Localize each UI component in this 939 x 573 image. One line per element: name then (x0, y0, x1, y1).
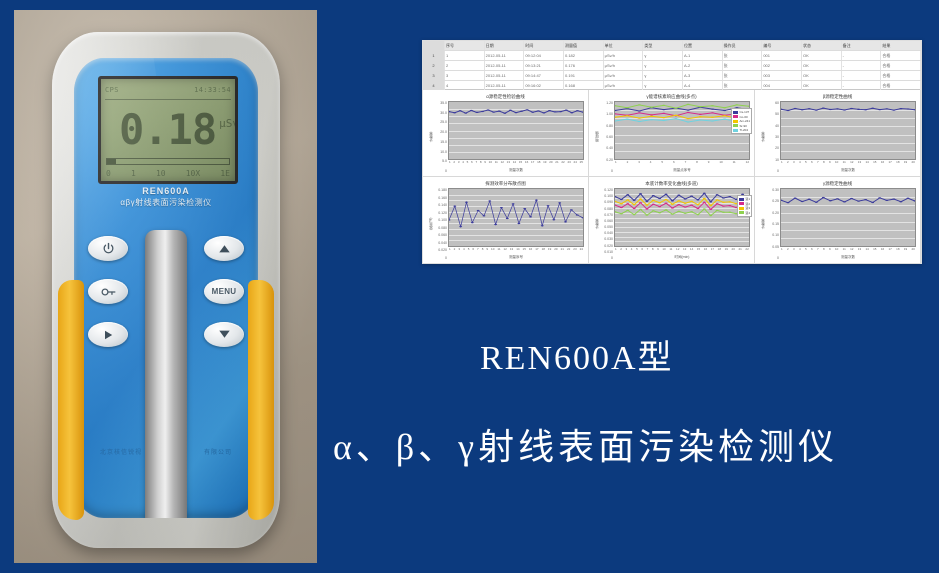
chart-y-tick: 5.0 (433, 159, 447, 163)
chart-x-tick: 1 (615, 247, 617, 254)
chart-x-tick: 7 (817, 160, 819, 167)
table-cell: - (842, 51, 882, 60)
table-cell: γ (643, 71, 683, 80)
down-button[interactable] (204, 322, 244, 347)
chart-plot-wrap: 1234567891011121314151617181920测量次数 (780, 188, 916, 260)
chart-y-tick: 10.0 (433, 150, 447, 154)
table-cell: 类型 (643, 41, 683, 50)
lcd-status-time: 14:33:54 (194, 86, 231, 94)
chart-x-tick: 14 (513, 160, 516, 167)
data-table: 序号日期时间测量值单位类型位置操作员编号状态备注结果112012-05-1109… (423, 41, 921, 90)
chart-x-tick: 9 (484, 160, 486, 167)
chart-body: 响应值1.201.000.800.600.400.200123456789101… (593, 101, 750, 173)
table-cell: - (842, 71, 882, 80)
lcd-screen: CPS 14:33:54 0.18 μSv/h 0 1 10 10X 1E (98, 76, 238, 184)
table-cell: A-3 (683, 71, 723, 80)
chart-x-tick: 4 (650, 160, 652, 167)
slide-canvas: CPS 14:33:54 0.18 μSv/h 0 1 10 10X 1E (0, 0, 939, 573)
table-cell: 001 (762, 51, 802, 60)
lcd-status-row: CPS 14:33:54 (105, 82, 231, 97)
device-model-text: REN600A (74, 186, 258, 196)
chart-x-tick: 3 (626, 247, 628, 254)
chart-plot-wrap: 1234567891011121314151617181920212223242… (448, 101, 584, 173)
chart-x-tick: 4 (631, 247, 633, 254)
chart-x-tick: 19 (904, 247, 907, 254)
chart-x-tick: 21 (555, 160, 558, 167)
device-grip-right (248, 280, 274, 520)
table-cell: 合格 (881, 61, 921, 70)
chart-x-tick: 12 (676, 247, 679, 254)
chart-series-svg (449, 102, 583, 159)
table-cell: 004 (762, 81, 802, 90)
chart-x-tick: 12 (746, 160, 749, 167)
chart-x-tick: 23 (573, 247, 576, 254)
table-cell: A-1 (683, 51, 723, 60)
chart-x-tick: 5 (805, 160, 807, 167)
chart-legend: 道1道2道3道4 (737, 195, 752, 217)
chart-x-tick: 3 (793, 160, 795, 167)
product-model-title: REN600A型 (480, 330, 900, 379)
chart-x-tick: 3 (793, 247, 795, 254)
chart-x-tick: 17 (531, 160, 534, 167)
chart-x-tick: 10 (835, 160, 838, 167)
chart-y-tick: 30 (765, 135, 779, 139)
chart-legend-swatch (739, 207, 744, 210)
chart-y-tick: 60 (765, 101, 779, 105)
chevron-down-icon (218, 329, 231, 340)
chart-y-axis-label: 计数率 (427, 101, 433, 173)
key-button[interactable] (88, 279, 128, 304)
chart-x-tick: 2 (787, 160, 789, 167)
chart-y-tick: 0.05 (765, 245, 779, 249)
chart-x-tick: 17 (711, 247, 714, 254)
chart-y-tick: 0.30 (765, 188, 779, 192)
chart-y-tick: 0.050 (599, 225, 613, 229)
table-row[interactable]: 222012-05-1109:13:210.176μSv/hγA-2张002OK… (423, 61, 921, 71)
device-footer-right: 有限公司 (204, 447, 232, 456)
chart-x-tick: 22 (745, 247, 748, 254)
chart-y-tick: 0.060 (433, 233, 447, 237)
chart-x-tick: 11 (669, 247, 672, 254)
chart-x-tick: 11 (843, 247, 846, 254)
lcd-tick-2: 10 (156, 169, 166, 178)
chart-y-tick: 0.100 (599, 194, 613, 198)
chart-y-tick: 0.20 (765, 211, 779, 215)
chart-x-tick: 15 (873, 160, 876, 167)
chart-y-tick: 1.00 (599, 112, 613, 116)
chart-y-tick: 10 (765, 158, 779, 162)
chevron-up-icon (218, 243, 231, 254)
chart-legend-label: 道2 (745, 202, 750, 206)
chart-x-tick: 18 (718, 247, 721, 254)
lcd-divider (105, 99, 231, 100)
chart-x-tick: 6 (811, 247, 813, 254)
chart-legend-item: Sr-90 (733, 124, 750, 128)
chart-legend-swatch (733, 120, 738, 123)
product-photo: CPS 14:33:54 0.18 μSv/h 0 1 10 10X 1E (14, 10, 317, 563)
chart-y-tick: 0 (765, 256, 779, 260)
chart-legend-item: 道2 (739, 202, 750, 206)
chart-x-tick: 17 (535, 247, 538, 254)
chart-beta-stability-1: β源稳定性曲线计数率605040302010012345678910111213… (755, 90, 921, 177)
chart-y-ticks: 35.030.025.020.015.010.05.00 (433, 101, 448, 173)
chart-y-ticks: 1.201.000.800.600.400.200 (599, 101, 614, 173)
menu-button[interactable]: MENU (204, 279, 244, 304)
chart-legend-label: 道3 (745, 206, 750, 210)
chart-legend-swatch (733, 129, 738, 132)
chart-series-svg (781, 102, 915, 159)
chart-x-tick: 10 (491, 247, 494, 254)
chart-x-tick: 16 (529, 247, 532, 254)
chart-y-tick: 0.080 (599, 207, 613, 211)
chart-y-tick: 15.0 (433, 140, 447, 144)
chart-x-tick: 15 (697, 247, 700, 254)
table-cell: 09:12:04 (524, 51, 564, 60)
device-label: REN600A αβγ射线表面污染检测仪 (74, 186, 258, 208)
table-cell: 张 (723, 71, 763, 80)
chart-legend-label: Am-241 (739, 119, 750, 123)
table-cell: - (842, 81, 882, 90)
chart-title: 探测效率分布散点图 (427, 180, 584, 188)
table-cell: γ (643, 61, 683, 70)
chart-x-tick: 7 (477, 247, 479, 254)
chart-x-tick: 5 (467, 160, 469, 167)
chart-x-tick: 15 (523, 247, 526, 254)
chart-x-tick: 22 (561, 160, 564, 167)
chart-x-tick: 19 (548, 247, 551, 254)
chart-multi-isotope: γ能谱核素响应曲线(多点)响应值1.201.000.800.600.400.20… (589, 90, 755, 177)
chart-series-svg (615, 189, 749, 246)
chart-x-tick: 18 (896, 247, 899, 254)
table-cell: 002 (762, 61, 802, 70)
chart-x-tick: 18 (542, 247, 545, 254)
chart-x-tick: 7 (685, 160, 687, 167)
chart-x-tick: 16 (881, 247, 884, 254)
chart-plot-area (614, 188, 750, 247)
chart-plot-area (448, 188, 584, 247)
chart-y-tick: 0.140 (433, 203, 447, 207)
table-cell: γ (643, 81, 683, 90)
chart-x-ticks: 12345678910111213141516171819202122 (614, 247, 750, 254)
table-header-row: 序号日期时间测量值单位类型位置操作员编号状态备注结果 (423, 41, 921, 51)
table-cell: μSv/h (604, 71, 644, 80)
chart-y-tick: 0.40 (599, 146, 613, 150)
lcd-tick-0: 0 (106, 169, 111, 178)
chart-x-tick: 19 (904, 160, 907, 167)
table-cell: 0.182 (564, 51, 604, 60)
chart-x-tick: 10 (719, 160, 722, 167)
chart-x-tick: 8 (482, 247, 484, 254)
chart-y-axis-label: 响应值 (593, 101, 599, 173)
chart-x-tick: 12 (850, 160, 853, 167)
chart-y-tick: 0.040 (599, 231, 613, 235)
chart-x-tick: 20 (912, 160, 915, 167)
table-cell: 1 (423, 51, 445, 60)
device-keypad: MENU (74, 236, 258, 478)
chart-x-tick: 2 (787, 247, 789, 254)
chart-legend-item: 道3 (739, 206, 750, 210)
chart-y-tick: 0.160 (433, 196, 447, 200)
table-cell: 单位 (604, 41, 644, 50)
table-cell: γ (643, 51, 683, 60)
table-cell: 1 (445, 51, 485, 60)
chart-legend-swatch (739, 198, 744, 201)
chart-plot-wrap: 123456789101112测量点序号 (614, 101, 750, 173)
table-cell: 2012-05-11 (485, 71, 525, 80)
chart-x-tick: 7 (475, 160, 477, 167)
chart-y-tick: 0.090 (599, 200, 613, 204)
chart-y-tick: 0.20 (599, 158, 613, 162)
table-cell: 09:14:47 (524, 71, 564, 80)
chart-x-axis-label: 测量次数 (448, 167, 584, 173)
device-front-face: CPS 14:33:54 0.18 μSv/h 0 1 10 10X 1E (74, 58, 258, 518)
chart-x-axis-label: 测量序号 (448, 254, 584, 260)
table-cell: 3 (423, 71, 445, 80)
chart-legend-item: 道4 (739, 211, 750, 215)
chart-x-ticks: 1234567891011121314151617181920212223242… (448, 160, 584, 167)
table-cell: 09:16:02 (524, 81, 564, 90)
chart-x-tick: 8 (823, 160, 825, 167)
chart-x-tick: 2 (620, 247, 622, 254)
chart-legend-label: Cs-137 (739, 110, 749, 114)
table-cell: OK (802, 61, 842, 70)
lcd-status-mode: CPS (105, 86, 119, 94)
chart-y-tick: 0.80 (599, 124, 613, 128)
chart-y-axis-label: 效率(%) (427, 188, 433, 260)
chart-x-tick: 15 (519, 160, 522, 167)
product-description-title: α、β、γ射线表面污染检测仪 (333, 418, 933, 470)
chart-legend-item: 道1 (739, 197, 750, 201)
table-row[interactable]: 332012-05-1109:14:470.191μSv/hγA-3张003OK… (423, 71, 921, 81)
chart-y-ticks: 0.1800.1600.1400.1200.1000.0800.0600.040… (433, 188, 448, 260)
chart-x-tick: 9 (657, 247, 659, 254)
chart-title: γ源稳定性曲线 (759, 180, 916, 188)
chart-x-tick: 14 (690, 247, 693, 254)
chart-x-tick: 13 (507, 160, 510, 167)
chart-bg-multi: 本底计数率变化曲线(多道)计数率0.1200.1000.0900.0800.07… (589, 177, 755, 264)
chart-beta-stability-2: γ源稳定性曲线计数率0.300.250.200.150.100.05012345… (755, 177, 921, 264)
chart-alpha-stability: α源稳定性检验曲线计数率35.030.025.020.015.010.05.00… (423, 90, 589, 177)
chart-plot-area (614, 101, 750, 160)
table-cell: 编号 (762, 41, 802, 50)
chart-x-tick: 12 (501, 160, 504, 167)
chart-x-tick: 10 (835, 247, 838, 254)
chart-x-tick: 6 (472, 247, 474, 254)
table-cell: 备注 (842, 41, 882, 50)
chart-y-tick: 0.15 (765, 222, 779, 226)
chart-x-tick: 9 (829, 247, 831, 254)
table-cell: 2012-05-11 (485, 81, 525, 90)
chart-x-tick: 1 (781, 160, 783, 167)
chart-x-tick: 9 (486, 247, 488, 254)
chart-y-tick: 30.0 (433, 111, 447, 115)
lcd-tick-1: 1 (131, 169, 136, 178)
table-cell: 0.191 (564, 71, 604, 80)
chart-legend-label: 道1 (745, 197, 750, 201)
chart-x-tick: 11 (843, 160, 846, 167)
chart-y-tick: 0.060 (599, 219, 613, 223)
chart-x-tick: 10 (489, 160, 492, 167)
table-cell: A-2 (683, 61, 723, 70)
chart-x-tick: 25 (580, 160, 583, 167)
chart-y-tick: 0.10 (765, 233, 779, 237)
chart-x-tick: 5 (468, 247, 470, 254)
table-cell: 测量值 (564, 41, 604, 50)
chart-y-tick: 1.20 (599, 101, 613, 105)
software-screenshot-panel: 序号日期时间测量值单位类型位置操作员编号状态备注结果112012-05-1109… (422, 40, 922, 264)
chart-x-tick: 9 (829, 160, 831, 167)
chart-x-tick: 14 (516, 247, 519, 254)
chart-y-tick: 0 (765, 169, 779, 173)
chart-x-tick: 3 (458, 247, 460, 254)
chart-x-tick: 11 (733, 160, 736, 167)
keypad-column-right: MENU (204, 236, 244, 347)
chart-y-tick: 50 (765, 112, 779, 116)
chart-y-tick: 20 (765, 146, 779, 150)
chart-x-tick: 8 (652, 247, 654, 254)
chart-y-axis-label: 计数率 (759, 188, 765, 260)
chart-series-svg (615, 102, 749, 159)
chart-x-tick: 1 (781, 247, 783, 254)
chart-legend-swatch (733, 124, 738, 127)
table-cell: A-4 (683, 81, 723, 90)
chart-x-ticks: 1234567891011121314151617181920 (780, 160, 916, 167)
chart-x-tick: 2 (627, 160, 629, 167)
chart-x-axis-label: 测量次数 (780, 167, 916, 173)
chart-y-tick: 0 (433, 256, 447, 260)
power-icon (102, 242, 115, 255)
chart-y-tick: 0.080 (433, 226, 447, 230)
up-button[interactable] (204, 236, 244, 261)
chart-legend-item: Co-60 (733, 115, 750, 119)
chart-legend-swatch (733, 111, 738, 114)
chart-x-tick: 11 (497, 247, 500, 254)
chart-legend-label: Tl-204 (739, 128, 748, 132)
table-cell: 2 (423, 61, 445, 70)
chart-y-tick: 0.120 (599, 188, 613, 192)
chart-x-axis-label: 时间(min) (614, 254, 750, 260)
table-row[interactable]: 112012-05-1109:12:040.182μSv/hγA-1张001OK… (423, 51, 921, 61)
chart-legend-item: Am-241 (733, 119, 750, 123)
lcd-reading: 0.18 μSv/h (107, 103, 231, 157)
chart-x-tick: 3 (638, 160, 640, 167)
device-chinese-text: αβγ射线表面污染检测仪 (74, 197, 258, 208)
chart-x-tick: 14 (865, 247, 868, 254)
keypad-column-left (88, 236, 128, 347)
table-cell: - (842, 61, 882, 70)
chart-body: 计数率35.030.025.020.015.010.05.00123456789… (427, 101, 584, 173)
table-cell: 张 (723, 51, 763, 60)
chart-title: γ能谱核素响应曲线(多点) (593, 93, 750, 101)
chart-y-tick: 0.030 (599, 237, 613, 241)
chart-x-tick: 15 (873, 247, 876, 254)
chart-y-tick: 0.25 (765, 199, 779, 203)
table-cell: 2012-05-11 (485, 61, 525, 70)
chart-x-tick: 13 (858, 160, 861, 167)
chart-title: 本底计数率变化曲线(多道) (593, 180, 750, 188)
chart-y-tick: 0.60 (599, 135, 613, 139)
chart-x-tick: 20 (549, 160, 552, 167)
chart-x-tick: 4 (463, 247, 465, 254)
chart-legend-swatch (739, 211, 744, 214)
chart-x-ticks: 1234567891011121314151617181920 (780, 247, 916, 254)
chart-x-tick: 4 (799, 247, 801, 254)
lcd-tick-3: 10X (186, 169, 200, 178)
chart-x-ticks: 123456789101112 (614, 160, 750, 167)
chart-legend: Cs-137Co-60Am-241Sr-90Tl-204 (731, 108, 752, 134)
table-cell: 4 (423, 81, 445, 90)
chart-y-tick: 0.100 (433, 218, 447, 222)
lcd-bargraph (106, 158, 230, 165)
chart-title: β源稳定性曲线 (759, 93, 916, 101)
play-button[interactable] (88, 322, 128, 347)
table-cell: 结果 (881, 41, 921, 50)
chart-legend-item: Tl-204 (733, 128, 750, 132)
chart-y-tick: 0.180 (433, 188, 447, 192)
device-grip-left (58, 280, 84, 520)
chart-efficiency-scatter: 探测效率分布散点图效率(%)0.1800.1600.1400.1200.1000… (423, 177, 589, 264)
table-cell: 张 (723, 81, 763, 90)
chart-x-tick: 5 (661, 160, 663, 167)
chart-y-tick: 25.0 (433, 120, 447, 124)
table-cell: 操作员 (723, 41, 763, 50)
chart-x-tick: 19 (543, 160, 546, 167)
chart-legend-swatch (733, 115, 738, 118)
chart-y-tick: 0.070 (599, 213, 613, 217)
table-cell: μSv/h (604, 51, 644, 60)
chart-plot-area (448, 101, 584, 160)
table-cell: 4 (445, 81, 485, 90)
chart-x-tick: 4 (462, 160, 464, 167)
chart-x-tick: 5 (805, 247, 807, 254)
chart-legend-swatch (739, 202, 744, 205)
device-handle-strip (145, 230, 187, 518)
chart-x-tick: 18 (896, 160, 899, 167)
chart-series-svg (781, 189, 915, 246)
chart-x-tick: 23 (567, 160, 570, 167)
table-cell: 时间 (524, 41, 564, 50)
chart-x-tick: 17 (888, 160, 891, 167)
power-button[interactable] (88, 236, 128, 261)
chart-x-tick: 1 (615, 160, 617, 167)
chart-y-tick: 0 (599, 169, 613, 173)
chart-legend-label: Sr-90 (739, 124, 746, 128)
lcd-scale-ticks: 0 1 10 10X 1E (106, 167, 230, 179)
chart-y-tick: 20.0 (433, 130, 447, 134)
chart-x-tick: 21 (561, 247, 564, 254)
chart-x-tick: 10 (662, 247, 665, 254)
chart-series-svg (449, 189, 583, 246)
table-cell: 3 (445, 71, 485, 80)
chart-x-tick: 6 (673, 160, 675, 167)
chart-plot-area (780, 101, 916, 160)
chart-x-tick: 14 (865, 160, 868, 167)
chart-y-tick: 0 (599, 256, 613, 260)
chart-x-tick: 6 (471, 160, 473, 167)
chart-plot-area (780, 188, 916, 247)
chart-x-tick: 6 (641, 247, 643, 254)
chart-legend-label: Co-60 (739, 115, 747, 119)
chart-x-tick: 12 (850, 247, 853, 254)
lcd-tick-4: 1E (220, 169, 230, 178)
chart-title: α源稳定性检验曲线 (427, 93, 584, 101)
device-footer-left: 北京核信锐视 (100, 447, 142, 456)
table-cell: OK (802, 51, 842, 60)
table-cell: 2 (445, 61, 485, 70)
chart-x-tick: 12 (504, 247, 507, 254)
chart-body: 计数率0.1200.1000.0900.0800.0700.0600.0500.… (593, 188, 750, 260)
chart-plot-wrap: 1234567891011121314151617181920测量次数 (780, 101, 916, 173)
